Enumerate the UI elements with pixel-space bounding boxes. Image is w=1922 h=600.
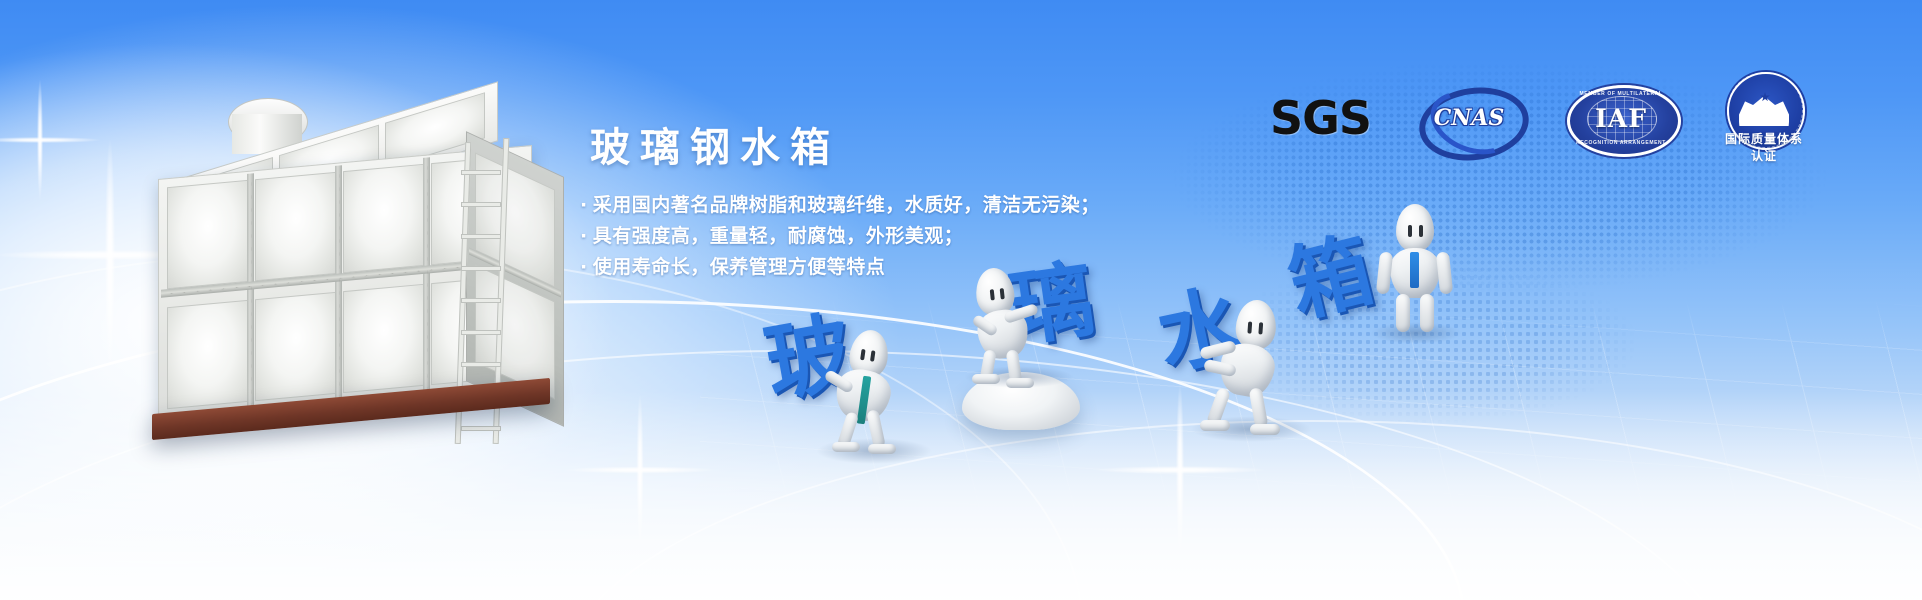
feature-list: ·采用国内著名品牌树脂和玻璃纤维，水质好，清洁无污染； ·具有强度高，重量轻，耐… — [580, 190, 1200, 282]
sgs-logo-text: SGS — [1270, 91, 1371, 145]
mascot-1 — [818, 330, 928, 460]
swoosh-arc-4 — [560, 420, 1922, 600]
iaf-badge: MEMBER OF MULTILATERAL IAF RECOGNITION A… — [1567, 85, 1675, 151]
cnca-badge: 国际质量体系认证 — [1721, 72, 1807, 164]
list-item-text: 采用国内著名品牌树脂和玻璃纤维，水质好，清洁无污染； — [593, 194, 1100, 216]
necktie — [1410, 252, 1419, 288]
bullet-marker-icon: · — [580, 225, 588, 247]
mascot-4 — [1368, 204, 1464, 340]
list-item-text: 使用寿命长，保养管理方便等特点 — [593, 256, 886, 278]
list-item: ·具有强度高，重量轻，耐腐蚀，外形美观； — [580, 221, 1200, 252]
promo-banner: 玻璃钢水箱 ·采用国内著名品牌树脂和玻璃纤维，水质好，清洁无污染； ·具有强度高… — [0, 0, 1922, 600]
list-item: ·使用寿命长，保养管理方便等特点 — [580, 252, 1200, 283]
bullet-marker-icon: · — [580, 194, 588, 216]
mascot-3 — [1196, 300, 1306, 438]
page-title: 玻璃钢水箱 — [590, 128, 1200, 168]
cnas-badge: CNAS — [1417, 84, 1521, 152]
sgs-badge: SGS — [1270, 91, 1371, 145]
iaf-ring-bottom-text: RECOGNITION ARRANGEMENT — [1567, 140, 1675, 146]
cnas-logo-text: CNAS — [1434, 105, 1505, 131]
cnca-label-text: 国际质量体系认证 — [1719, 130, 1809, 164]
list-item: ·采用国内著名品牌树脂和玻璃纤维，水质好，清洁无污染； — [580, 190, 1200, 221]
copy-block: 玻璃钢水箱 ·采用国内著名品牌树脂和玻璃纤维，水质好，清洁无污染； ·具有强度高… — [580, 128, 1200, 282]
certification-badge-row: SGS CNAS MEMBER OF MULTILATERAL IAF RECO… — [1270, 78, 1807, 158]
product-image-water-tank — [148, 80, 568, 440]
iaf-logo-text: IAF — [1595, 104, 1647, 133]
bullet-marker-icon: · — [580, 256, 588, 278]
iaf-ring-top-text: MEMBER OF MULTILATERAL — [1567, 91, 1675, 97]
list-item-text: 具有强度高，重量轻，耐腐蚀，外形美观； — [593, 225, 964, 247]
mascot-2 — [968, 268, 1068, 386]
